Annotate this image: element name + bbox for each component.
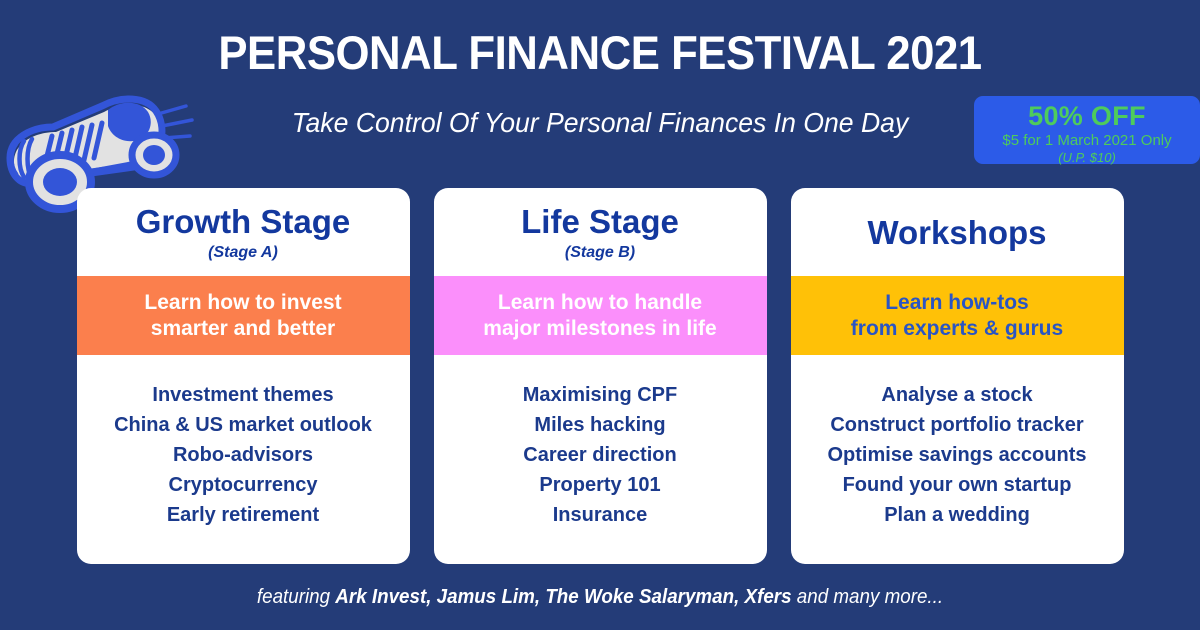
card-topic-list: Analyse a stock Construct portfolio trac…: [791, 355, 1124, 564]
list-item: Miles hacking: [434, 410, 767, 440]
card-header: Workshops: [791, 188, 1124, 276]
list-item: Construct portfolio tracker: [791, 410, 1124, 440]
card-header: Life Stage (Stage B): [434, 188, 767, 276]
card-band-line1: Learn how to handle: [498, 291, 702, 314]
card-band: Learn how to invest smarter and better: [77, 276, 410, 355]
list-item: Maximising CPF: [434, 380, 767, 410]
poster: PERSONAL FINANCE FESTIVAL 2021 Take Cont…: [0, 0, 1200, 630]
card-growth-stage[interactable]: Growth Stage (Stage A) Learn how to inve…: [77, 188, 410, 564]
list-item: Cryptocurrency: [77, 470, 410, 500]
list-item: Optimise savings accounts: [791, 440, 1124, 470]
footer-lead: featuring: [257, 586, 335, 608]
card-band: Learn how-tos from experts & gurus: [791, 276, 1124, 355]
card-life-stage[interactable]: Life Stage (Stage B) Learn how to handle…: [434, 188, 767, 564]
card-topic-list: Maximising CPF Miles hacking Career dire…: [434, 355, 767, 564]
card-title: Growth Stage: [136, 202, 351, 242]
featuring-footer: featuring Ark Invest, Jamus Lim, The Wok…: [36, 583, 1164, 611]
card-band-line1: Learn how-tos: [885, 291, 1029, 314]
list-item: Analyse a stock: [791, 380, 1124, 410]
list-item: Career direction: [434, 440, 767, 470]
card-band-line2: from experts & gurus: [851, 317, 1063, 340]
list-item: Investment themes: [77, 380, 410, 410]
page-title: PERSONAL FINANCE FESTIVAL 2021: [42, 22, 1158, 84]
footer-tail: and many more...: [792, 586, 944, 608]
card-title: Workshops: [867, 213, 1046, 253]
list-item: Early retirement: [77, 500, 410, 530]
footer-names: Ark Invest, Jamus Lim, The Woke Salaryma…: [335, 586, 791, 608]
card-topic-list: Investment themes China & US market outl…: [77, 355, 410, 564]
card-band-line2: smarter and better: [151, 317, 335, 340]
promo-headline: 50% OFF: [974, 101, 1200, 132]
promo-detail: $5 for 1 March 2021 Only: [974, 132, 1200, 150]
list-item: Insurance: [434, 500, 767, 530]
card-band-line1: Learn how to invest: [144, 291, 341, 314]
card-band: Learn how to handle major milestones in …: [434, 276, 767, 355]
list-item: Robo-advisors: [77, 440, 410, 470]
promo-note: (U.P. $10): [974, 150, 1200, 166]
card-workshops[interactable]: Workshops Learn how-tos from experts & g…: [791, 188, 1124, 564]
list-item: Found your own startup: [791, 470, 1124, 500]
card-subtitle: (Stage A): [208, 242, 278, 264]
stage-cards: Growth Stage (Stage A) Learn how to inve…: [0, 188, 1200, 564]
list-item: Plan a wedding: [791, 500, 1124, 530]
list-item: Property 101: [434, 470, 767, 500]
card-title: Life Stage: [521, 202, 679, 242]
card-header: Growth Stage (Stage A): [77, 188, 410, 276]
promo-badge[interactable]: 50% OFF $5 for 1 March 2021 Only (U.P. $…: [974, 96, 1200, 164]
card-band-line2: major milestones in life: [483, 317, 716, 340]
list-item: China & US market outlook: [77, 410, 410, 440]
card-subtitle: (Stage B): [565, 242, 635, 264]
